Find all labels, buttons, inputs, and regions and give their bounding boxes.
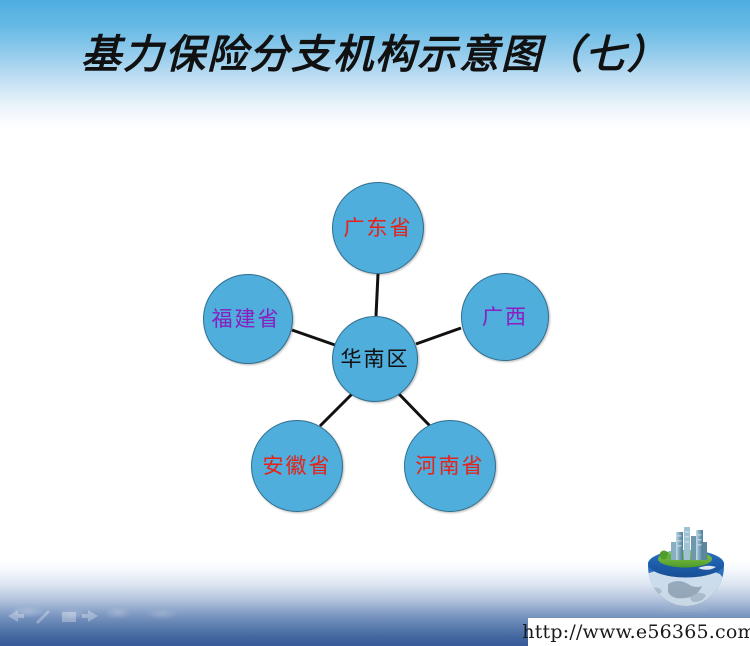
node-guangxi[interactable]: 广西 xyxy=(461,273,549,361)
node-label-fujian: 福建省 xyxy=(212,309,281,330)
connector-center-guangdong xyxy=(376,274,378,316)
connector-center-guangxi xyxy=(416,328,461,344)
node-label-center: 华南区 xyxy=(341,349,410,370)
node-henan[interactable]: 河南省 xyxy=(404,420,496,512)
node-anhui[interactable]: 安徽省 xyxy=(251,420,343,512)
node-label-henan: 河南省 xyxy=(416,456,485,477)
connector-center-henan xyxy=(399,394,430,426)
watermark-url: http://www.e56365.com xyxy=(528,618,750,646)
earth-city-globe-icon xyxy=(640,524,732,612)
node-center-south-china[interactable]: 华南区 xyxy=(332,316,418,402)
connector-center-anhui xyxy=(320,394,352,426)
slide-canvas: 基力保险分支机构示意图（七） 广东省 福建省 广西 华南区 安徽省 河南省 xyxy=(0,0,750,646)
node-label-anhui: 安徽省 xyxy=(263,456,332,477)
node-fujian[interactable]: 福建省 xyxy=(203,274,293,364)
node-guangdong[interactable]: 广东省 xyxy=(332,182,424,274)
node-label-guangdong: 广东省 xyxy=(344,218,413,239)
node-label-guangxi: 广西 xyxy=(482,307,528,328)
connector-center-fujian xyxy=(292,330,335,345)
